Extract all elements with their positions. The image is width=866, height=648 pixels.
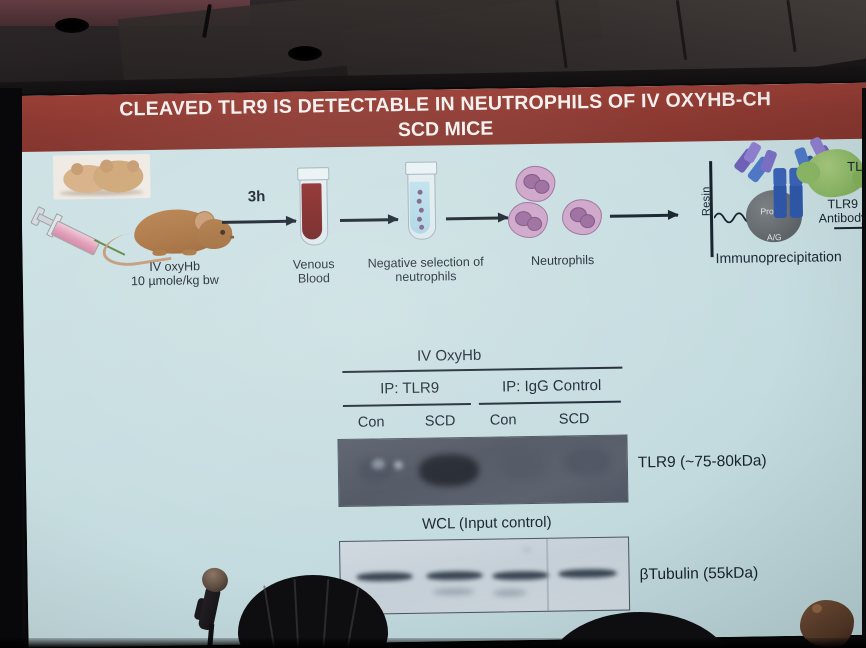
projection-screen: CLEAVED TLR9 IS DETECTABLE IN NEUTROPHIL… bbox=[20, 83, 866, 648]
screen-left-border bbox=[0, 88, 22, 648]
microphone-capsule bbox=[199, 565, 231, 596]
bottom-edge bbox=[0, 638, 866, 648]
ceiling-downlight-2 bbox=[288, 46, 322, 61]
microphone bbox=[196, 568, 230, 648]
screen-right-border bbox=[862, 88, 866, 648]
ceiling-downlight-1 bbox=[55, 18, 89, 33]
screenshot-root: CLEAVED TLR9 IS DETECTABLE IN NEUTROPHIL… bbox=[0, 0, 866, 648]
slide-vignette bbox=[20, 83, 866, 648]
